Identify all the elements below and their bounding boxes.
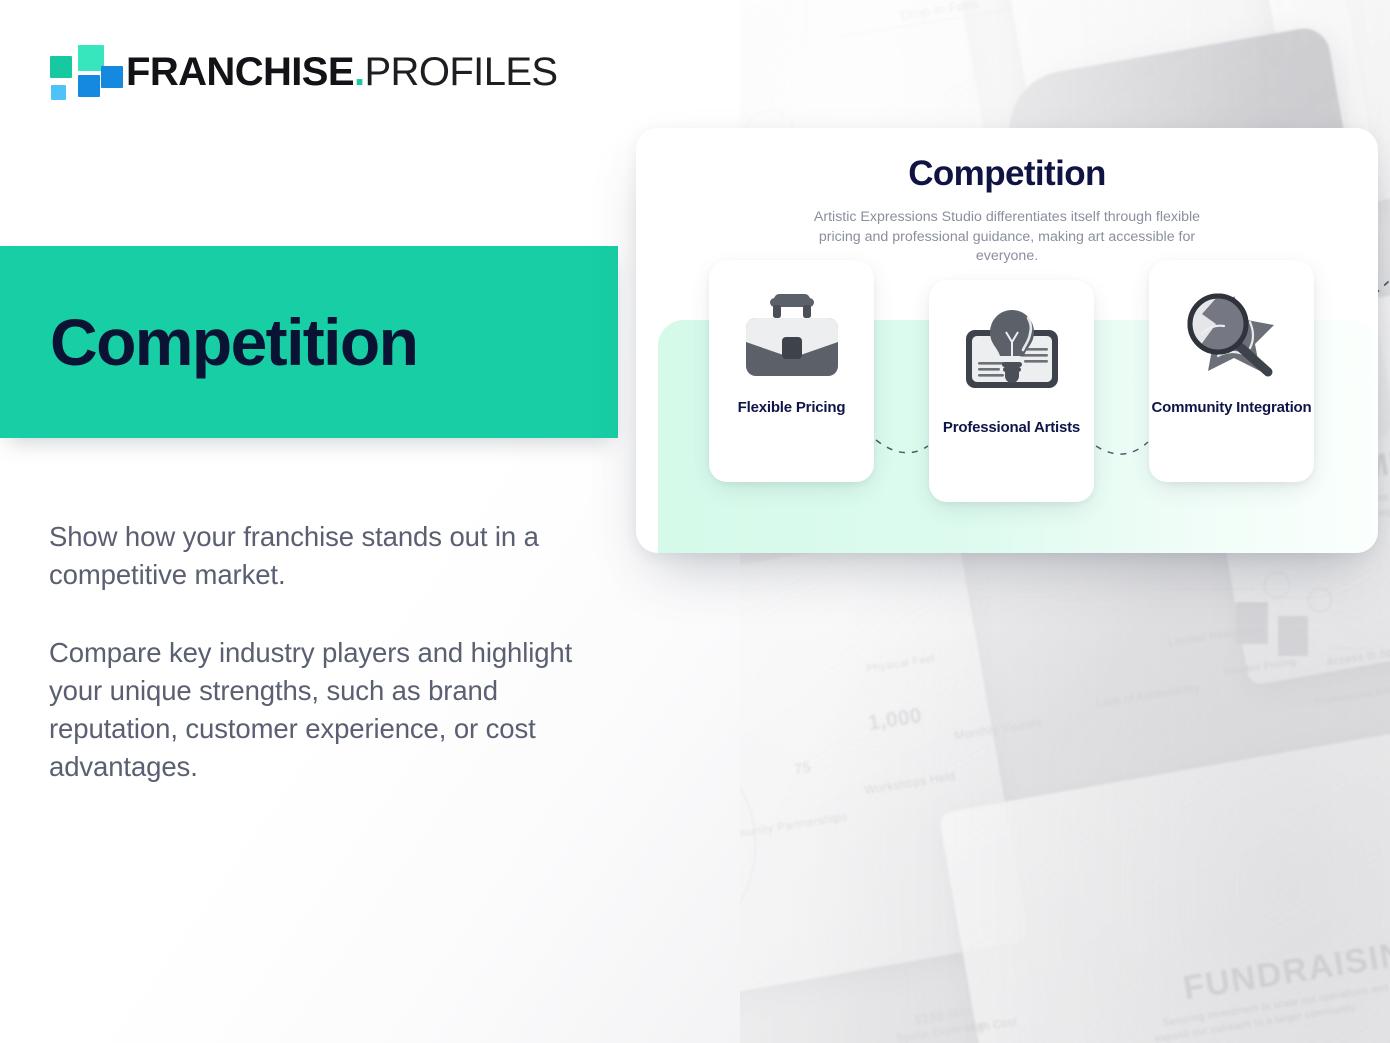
bg-line: [839, 8, 1017, 37]
bg-circle: [1264, 572, 1290, 598]
briefcase-icon: [732, 284, 852, 388]
bg-label: Drop-in Fees: [899, 0, 979, 23]
bg-label: Community Integration: [1376, 718, 1390, 746]
bg-label: Limited Resources: [1168, 623, 1265, 650]
page-title: Competition: [50, 309, 417, 375]
feature-card-row: Flexible Pricing: [636, 128, 1378, 553]
bg-bar: [1278, 616, 1308, 656]
bg-label: High Cost: [965, 1016, 1017, 1036]
bg-label: Space Expansion: [896, 1019, 987, 1043]
brand-wordmark: FRANCHISE.PROFILES: [126, 52, 558, 92]
bg-dash: [1332, 648, 1372, 649]
description-block: Show how your franchise stands out in a …: [49, 518, 619, 786]
feature-card-community-integration[interactable]: Community Integration: [1149, 260, 1314, 482]
bg-label: Workshops Held: [863, 769, 956, 797]
bg-stat: 75: [793, 759, 813, 778]
bg-label: Physical Feel: [865, 653, 935, 676]
bg-label: Flexible Pricing: [1224, 656, 1297, 678]
bg-stat: $150,000: [913, 1004, 971, 1028]
bg-body: expand our outreach to a larger communit…: [1154, 1002, 1358, 1043]
bg-label: Lack of Accessibility: [1096, 682, 1201, 710]
bg-stat: 1,000: [866, 704, 923, 736]
feature-card-label: Flexible Pricing: [738, 398, 846, 417]
brand-name-bold: FRANCHISE: [126, 50, 354, 94]
bg-label: Professional Artists: [1314, 683, 1390, 708]
preview-slide-card: Competition Artistic Expressions Studio …: [636, 128, 1378, 553]
description-paragraph-1: Show how your franchise stands out in a …: [49, 518, 619, 594]
brand-name-light: PROFILES: [364, 50, 557, 94]
brand-logo[interactable]: FRANCHISE.PROFILES: [48, 44, 558, 100]
magnifier-star-icon: [1172, 284, 1292, 388]
section-title-banner: Competition: [0, 246, 618, 438]
feature-card-flexible-pricing[interactable]: Flexible Pricing: [709, 260, 874, 482]
bg-label: Monthly Visitors: [953, 715, 1043, 743]
bg-body: Securing investment to scale our operati…: [1163, 982, 1390, 1029]
bg-dash: [1176, 588, 1254, 589]
bg-bar: [1236, 602, 1268, 644]
squares-logo-icon: [48, 44, 108, 100]
feature-card-label: Community Integration: [1152, 398, 1312, 417]
bg-circle: [1308, 588, 1332, 612]
bg-label: Access to Space: [1326, 643, 1390, 668]
bg-tile-fundraising: [938, 732, 1390, 1043]
bg-heading: FUNDRAISING: [1181, 930, 1390, 1008]
description-paragraph-2: Compare key industry players and highlig…: [49, 634, 619, 786]
feature-card-professional-artists[interactable]: Professional Artists: [929, 280, 1094, 502]
bg-dash: [806, 0, 807, 52]
bg-tile-metrics: [716, 527, 1029, 1014]
brand-name-dot: .: [354, 50, 365, 94]
slide-stage: Drop-in Fees Session Workshops Commissio…: [0, 0, 1390, 1043]
lightbulb-board-icon: [952, 304, 1072, 408]
feature-card-label: Professional Artists: [943, 418, 1080, 437]
